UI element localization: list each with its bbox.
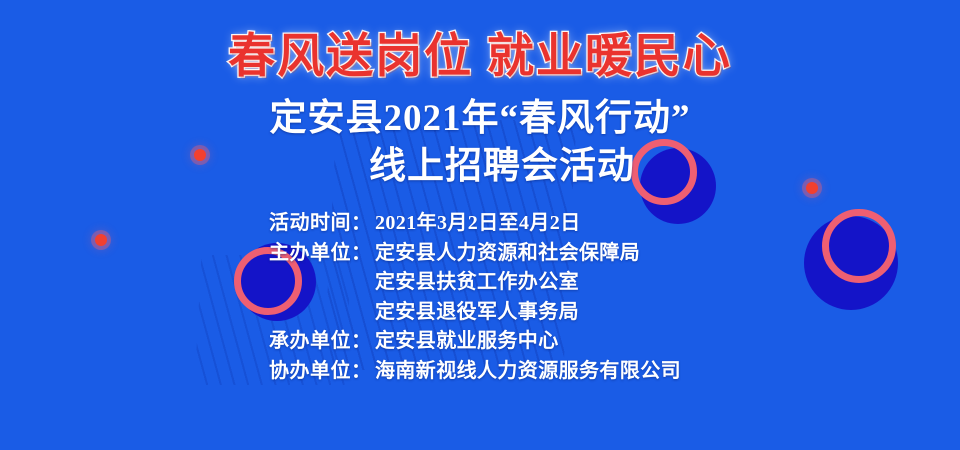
- poster-content: 春风送岗位 就业暖民心 定安县2021年“春风行动” 线上招聘会活动 活动时间：…: [0, 0, 960, 450]
- info-row-label: 主办单位：: [269, 239, 375, 269]
- info-row-value: 定安县扶贫工作办公室: [375, 268, 579, 298]
- info-row-value: 定安县退役军人事务局: [375, 298, 579, 328]
- info-row: 主办单位：定安县人力资源和社会保障局: [269, 239, 681, 269]
- info-row-value: 定安县就业服务中心: [375, 327, 559, 357]
- poster-headline: 春风送岗位 就业暖民心: [0, 0, 960, 83]
- info-row-value: 海南新视线人力资源服务有限公司: [375, 357, 681, 387]
- subtitle-line-1: 定安县2021年“春风行动”: [270, 98, 691, 139]
- info-row-label: 承办单位：: [269, 327, 375, 357]
- subtitle-line-2: 线上招聘会活动: [0, 143, 960, 191]
- info-row-label: 活动时间：: [269, 209, 375, 239]
- info-row-label: 协办单位：: [269, 357, 375, 387]
- info-row: 承办单位：定安县就业服务中心: [269, 327, 681, 357]
- info-row: 主办单位：定安县退役军人事务局: [269, 298, 681, 328]
- info-row: 主办单位：定安县扶贫工作办公室: [269, 268, 681, 298]
- info-row-value: 2021年3月2日至4月2日: [375, 209, 581, 239]
- info-row: 协办单位：海南新视线人力资源服务有限公司: [269, 357, 681, 387]
- poster-root: 春风送岗位 就业暖民心 定安县2021年“春风行动” 线上招聘会活动 活动时间：…: [0, 0, 960, 450]
- event-info-block: 活动时间：2021年3月2日至4月2日主办单位：定安县人力资源和社会保障局主办单…: [269, 191, 681, 387]
- poster-subtitle: 定安县2021年“春风行动” 线上招聘会活动: [0, 83, 960, 191]
- info-row: 活动时间：2021年3月2日至4月2日: [269, 209, 681, 239]
- info-row-value: 定安县人力资源和社会保障局: [375, 239, 640, 269]
